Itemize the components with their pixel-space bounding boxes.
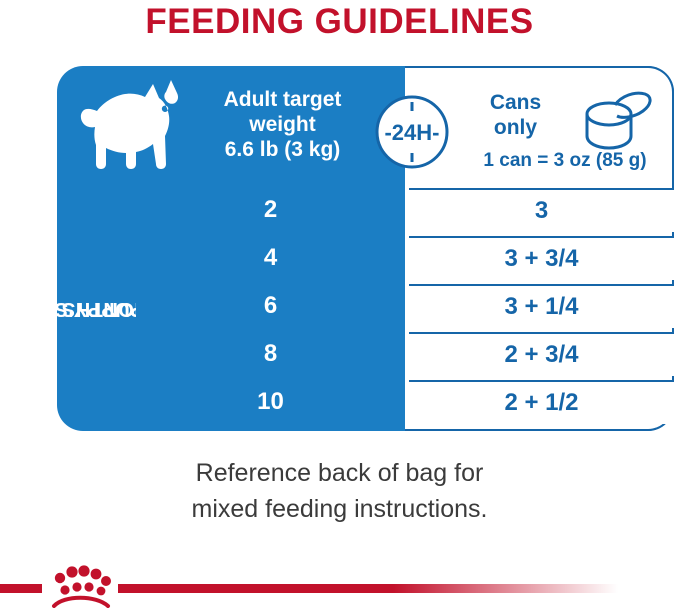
cans-line-1: Cans [463, 90, 568, 115]
table-row: 6 3 + 1/4 [136, 284, 674, 328]
cans-value: 3 [409, 188, 674, 232]
age-value: 6 [136, 284, 405, 328]
table-row: 10 2 + 1/2 [136, 380, 674, 424]
adult-target-weight: Adult target weight 6.6 lb (3 kg) [175, 87, 390, 162]
cans-value: 3 + 1/4 [409, 284, 674, 328]
puppy-age-side-label: PUPPY'S AGE IN MONTHS [59, 188, 135, 429]
adult-weight-line-2: weight [175, 112, 390, 137]
age-value: 4 [136, 236, 405, 280]
crown-paw-icon [44, 562, 116, 608]
cans-line-2: only [463, 115, 568, 140]
age-value: 2 [136, 188, 405, 232]
footnote: Reference back of bag for mixed feeding … [0, 455, 679, 527]
table-row: 8 2 + 3/4 [136, 332, 674, 376]
svg-text:-24H-: -24H- [384, 120, 439, 145]
dog-silhouette-icon [65, 76, 183, 176]
age-value: 8 [136, 332, 405, 376]
footnote-line-2: mixed feeding instructions. [0, 491, 679, 527]
feeding-guidelines-table: Adult target weight 6.6 lb (3 kg) -24H- … [57, 66, 674, 431]
cans-value: 2 + 3/4 [409, 332, 674, 376]
cans-value: 2 + 1/2 [409, 380, 674, 424]
table-row: 4 3 + 3/4 [136, 236, 674, 280]
table-header-row: Adult target weight 6.6 lb (3 kg) -24H- … [57, 66, 674, 183]
age-value: 10 [136, 380, 405, 424]
cans-only-label: Cans only [463, 90, 568, 140]
cans-value: 3 + 3/4 [409, 236, 674, 280]
page-title: FEEDING GUIDELINES [0, 2, 679, 42]
adult-weight-line-1: Adult target [175, 87, 390, 112]
table-body: 2 3 4 3 + 3/4 6 3 + 1/4 8 2 + 3/4 10 2 +… [136, 188, 674, 424]
can-equivalence-label: 1 can = 3 oz (85 g) [457, 150, 673, 172]
royal-canin-crown-logo [0, 562, 679, 614]
logo-bar-left [0, 584, 42, 593]
footnote-line-1: Reference back of bag for [0, 455, 679, 491]
logo-bar-right [118, 584, 618, 593]
adult-weight-line-3: 6.6 lb (3 kg) [175, 137, 390, 162]
can-icon [575, 88, 663, 152]
table-row: 2 3 [136, 188, 674, 232]
clock-24h-icon: -24H- [374, 94, 450, 170]
